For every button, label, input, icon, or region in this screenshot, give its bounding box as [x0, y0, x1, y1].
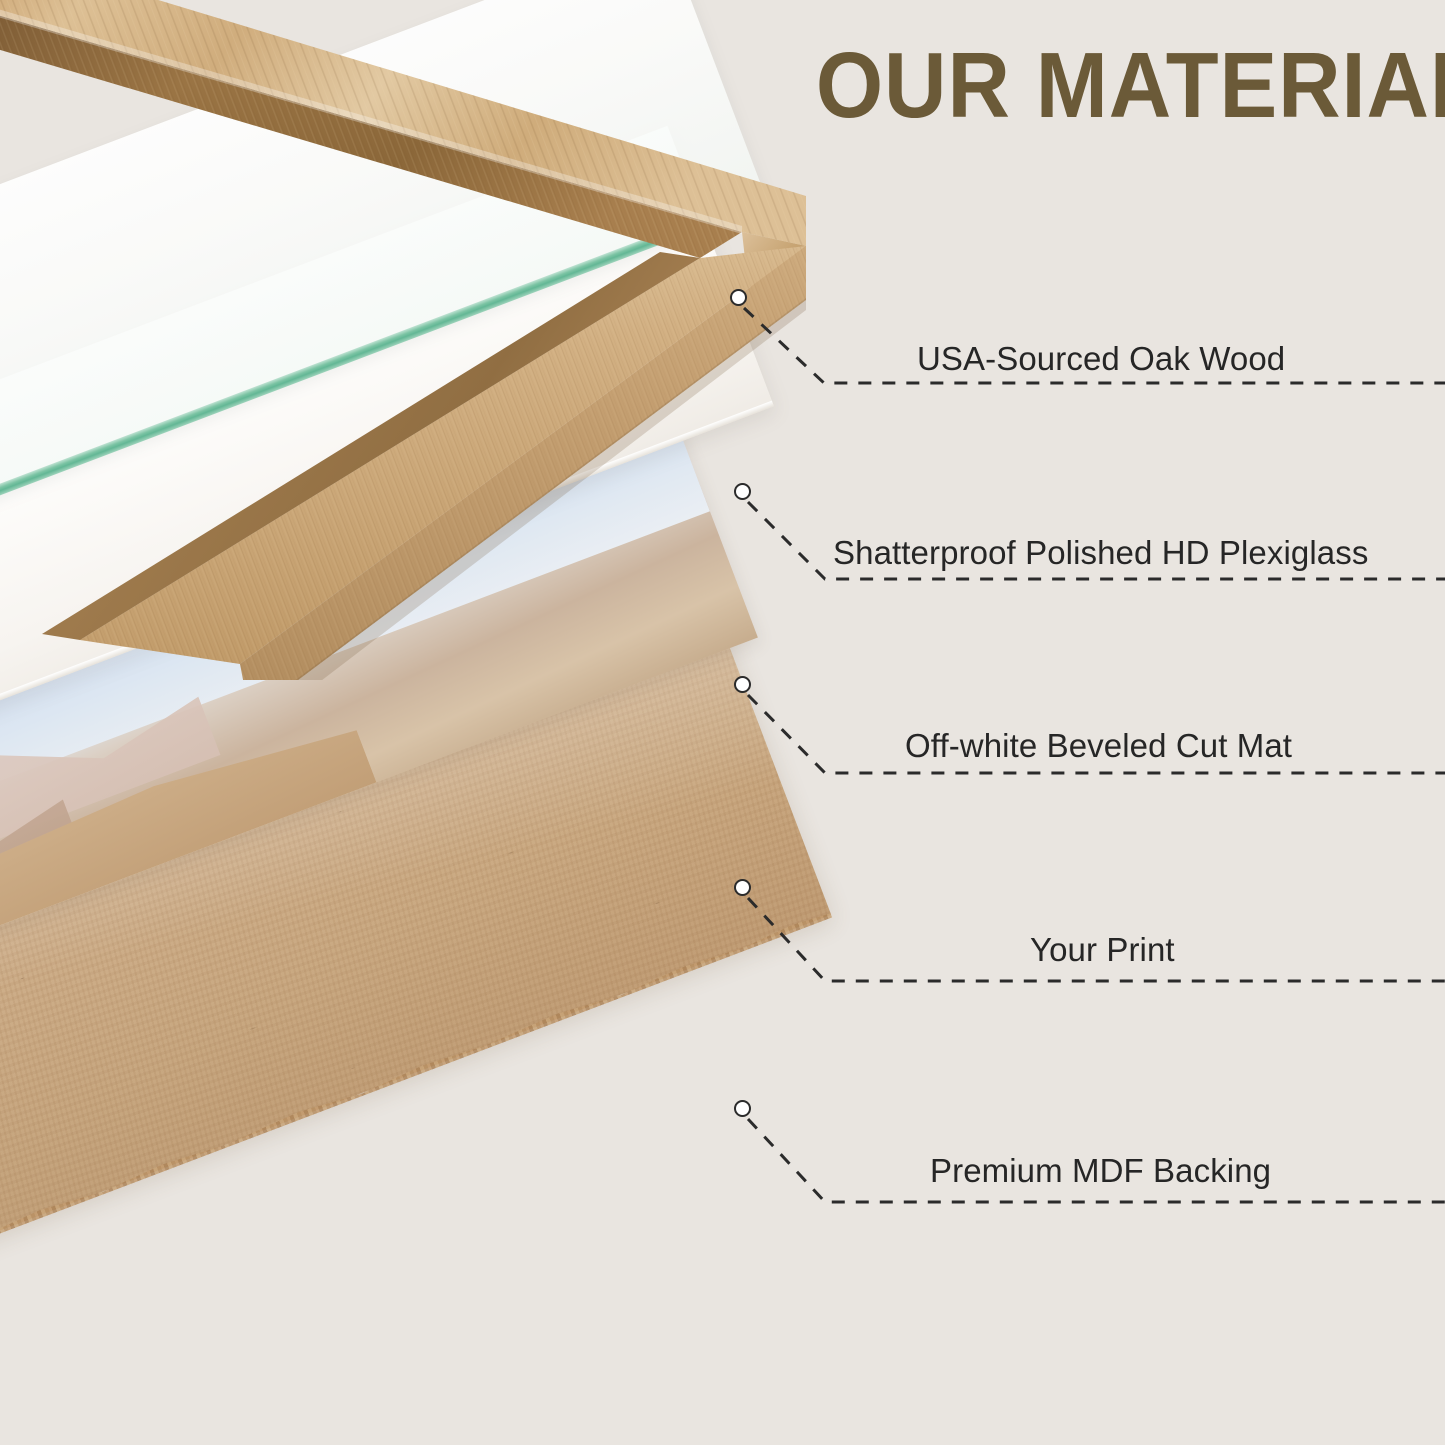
callout-label-print: Your Print	[1030, 931, 1175, 969]
frame-top-rail-grain	[0, 0, 806, 246]
callout-dot-mdf[interactable]	[734, 1100, 751, 1117]
callout-dot-oak[interactable]	[730, 289, 747, 306]
callout-dot-plexiglass[interactable]	[734, 483, 751, 500]
callout-label-plexiglass: Shatterproof Polished HD Plexiglass	[833, 534, 1368, 572]
callout-dot-mat[interactable]	[734, 676, 751, 693]
frame-right-rail-grain	[80, 246, 806, 664]
callout-label-mdf: Premium MDF Backing	[930, 1152, 1271, 1190]
callout-dot-print[interactable]	[734, 879, 751, 896]
callout-label-oak: USA-Sourced Oak Wood	[917, 340, 1285, 378]
callout-label-mat: Off-white Beveled Cut Mat	[905, 727, 1292, 765]
page-title: OUR MATERIALS	[816, 38, 1425, 132]
materials-infographic: USA-Sourced Oak Wood Shatterproof Polish…	[0, 0, 1445, 1445]
